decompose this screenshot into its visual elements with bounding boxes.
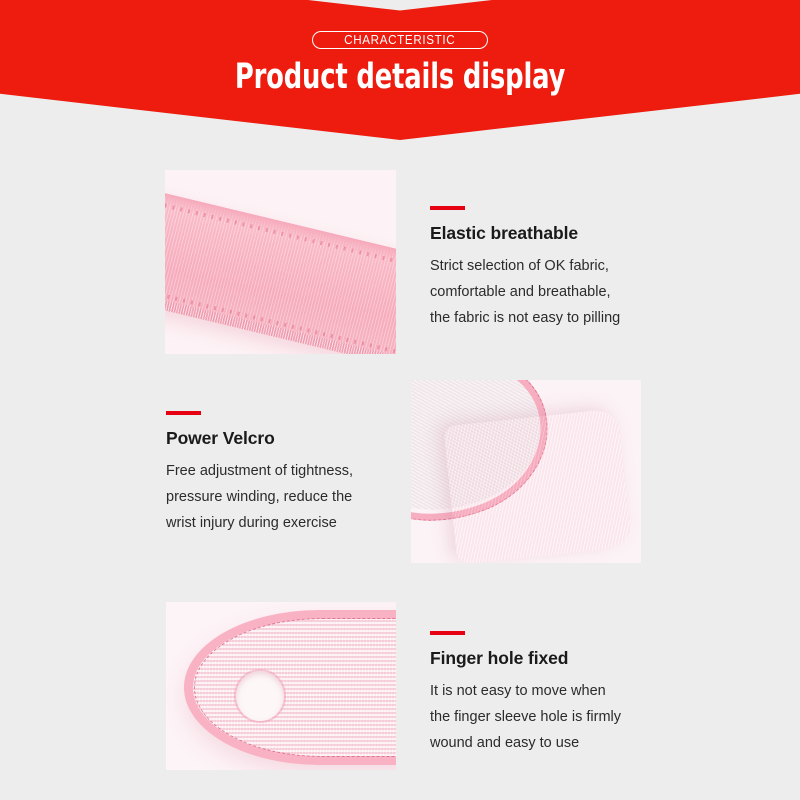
- feature-3-description: It is not easy to move when the finger s…: [430, 679, 685, 757]
- accent-bar-icon: [166, 411, 201, 415]
- characteristic-badge-label: CHARACTERISTIC: [344, 33, 455, 47]
- characteristic-badge: CHARACTERISTIC: [312, 31, 488, 49]
- feature-2-image: [411, 380, 641, 563]
- feature-1-text: Elastic breathable Strict selection of O…: [430, 206, 680, 332]
- feature-1-image: [165, 170, 396, 354]
- feature-3-image: [166, 602, 396, 770]
- feature-3-text: Finger hole fixed It is not easy to move…: [430, 631, 685, 757]
- feature-2-text: Power Velcro Free adjustment of tightnes…: [166, 411, 416, 537]
- header-banner: CHARACTERISTIC Product details display: [0, 0, 800, 140]
- velcro-flap-graphic: [443, 408, 631, 563]
- page-title: Product details display: [72, 57, 728, 97]
- feature-1-description: Strict selection of OK fabric, comfortab…: [430, 254, 680, 332]
- accent-bar-icon: [430, 631, 465, 635]
- accent-bar-icon: [430, 206, 465, 210]
- feature-2-description: Free adjustment of tightness, pressure w…: [166, 459, 416, 537]
- feature-1-title: Elastic breathable: [430, 223, 680, 244]
- feature-3-title: Finger hole fixed: [430, 648, 685, 669]
- feature-2-title: Power Velcro: [166, 428, 416, 449]
